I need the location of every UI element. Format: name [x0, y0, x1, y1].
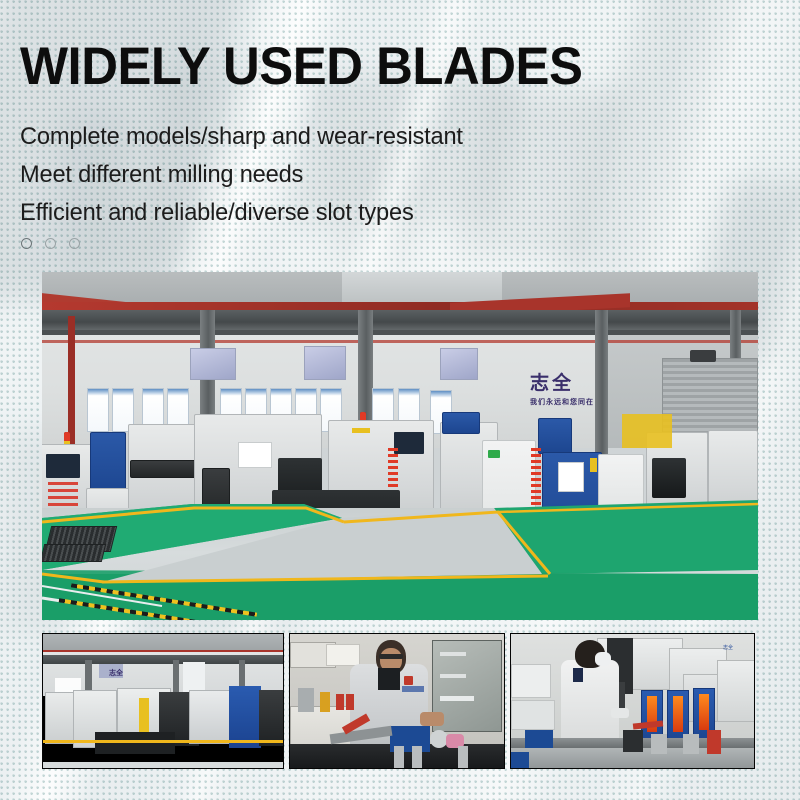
- machine-label: [238, 442, 272, 468]
- machine-control-panel: [46, 454, 80, 478]
- wall-poster: [87, 388, 109, 432]
- wall-sign-title: 志全: [530, 368, 594, 395]
- hero-subtitle-line-2: Meet different milling needs: [20, 156, 710, 194]
- machine-blue-panel: [538, 418, 572, 454]
- hoist-trolley: [690, 350, 716, 362]
- steel-column: [595, 310, 608, 460]
- machine-accent: [590, 458, 597, 472]
- wall-sign-subtitle: 我们永远和您同在: [530, 397, 594, 407]
- steel-roof-beam: [42, 310, 758, 332]
- carousel-dot-3[interactable]: [69, 238, 80, 249]
- ceiling-light-panel: [440, 348, 478, 380]
- carousel-dot-2[interactable]: [45, 238, 56, 249]
- hero-subtitle-line-3: Efficient and reliable/diverse slot type…: [20, 194, 710, 232]
- machine-accent: [352, 428, 370, 433]
- safety-railing: [622, 414, 672, 448]
- main-factory-photo[interactable]: 志全 我们永远和您同在 TSUGAMI: [42, 272, 758, 620]
- carousel-pagination[interactable]: [21, 238, 80, 249]
- wall-sign: 志全 我们永远和您同在: [530, 368, 594, 407]
- hero-subtitle-line-1: Complete models/sharp and wear-resistant: [20, 118, 710, 156]
- steel-roof-beam: [42, 330, 758, 335]
- carousel-dot-1[interactable]: [21, 238, 32, 249]
- hero-banner: WIDELY USED BLADES Complete models/sharp…: [0, 0, 800, 800]
- machine-dark-panel: [130, 460, 198, 478]
- thumbnail-2[interactable]: [289, 633, 505, 769]
- ceiling-light-panel: [190, 348, 236, 380]
- hero-text-block: WIDELY USED BLADES Complete models/sharp…: [20, 40, 720, 232]
- hero-subtitle-list: Complete models/sharp and wear-resistant…: [20, 118, 720, 232]
- thumbnail-3[interactable]: 志全: [510, 633, 755, 769]
- ceiling-light-panel: [304, 346, 346, 380]
- thumbnail-strip[interactable]: 志全: [42, 633, 758, 769]
- parts-tray: [42, 544, 106, 562]
- machine-indicator: [488, 450, 500, 458]
- page-title: WIDELY USED BLADES: [20, 40, 692, 93]
- machine-control-panel: [394, 432, 424, 454]
- thumbnail-1[interactable]: 志全: [42, 633, 284, 769]
- crane-rail: [42, 340, 758, 343]
- machine-blue-panel: [442, 412, 480, 434]
